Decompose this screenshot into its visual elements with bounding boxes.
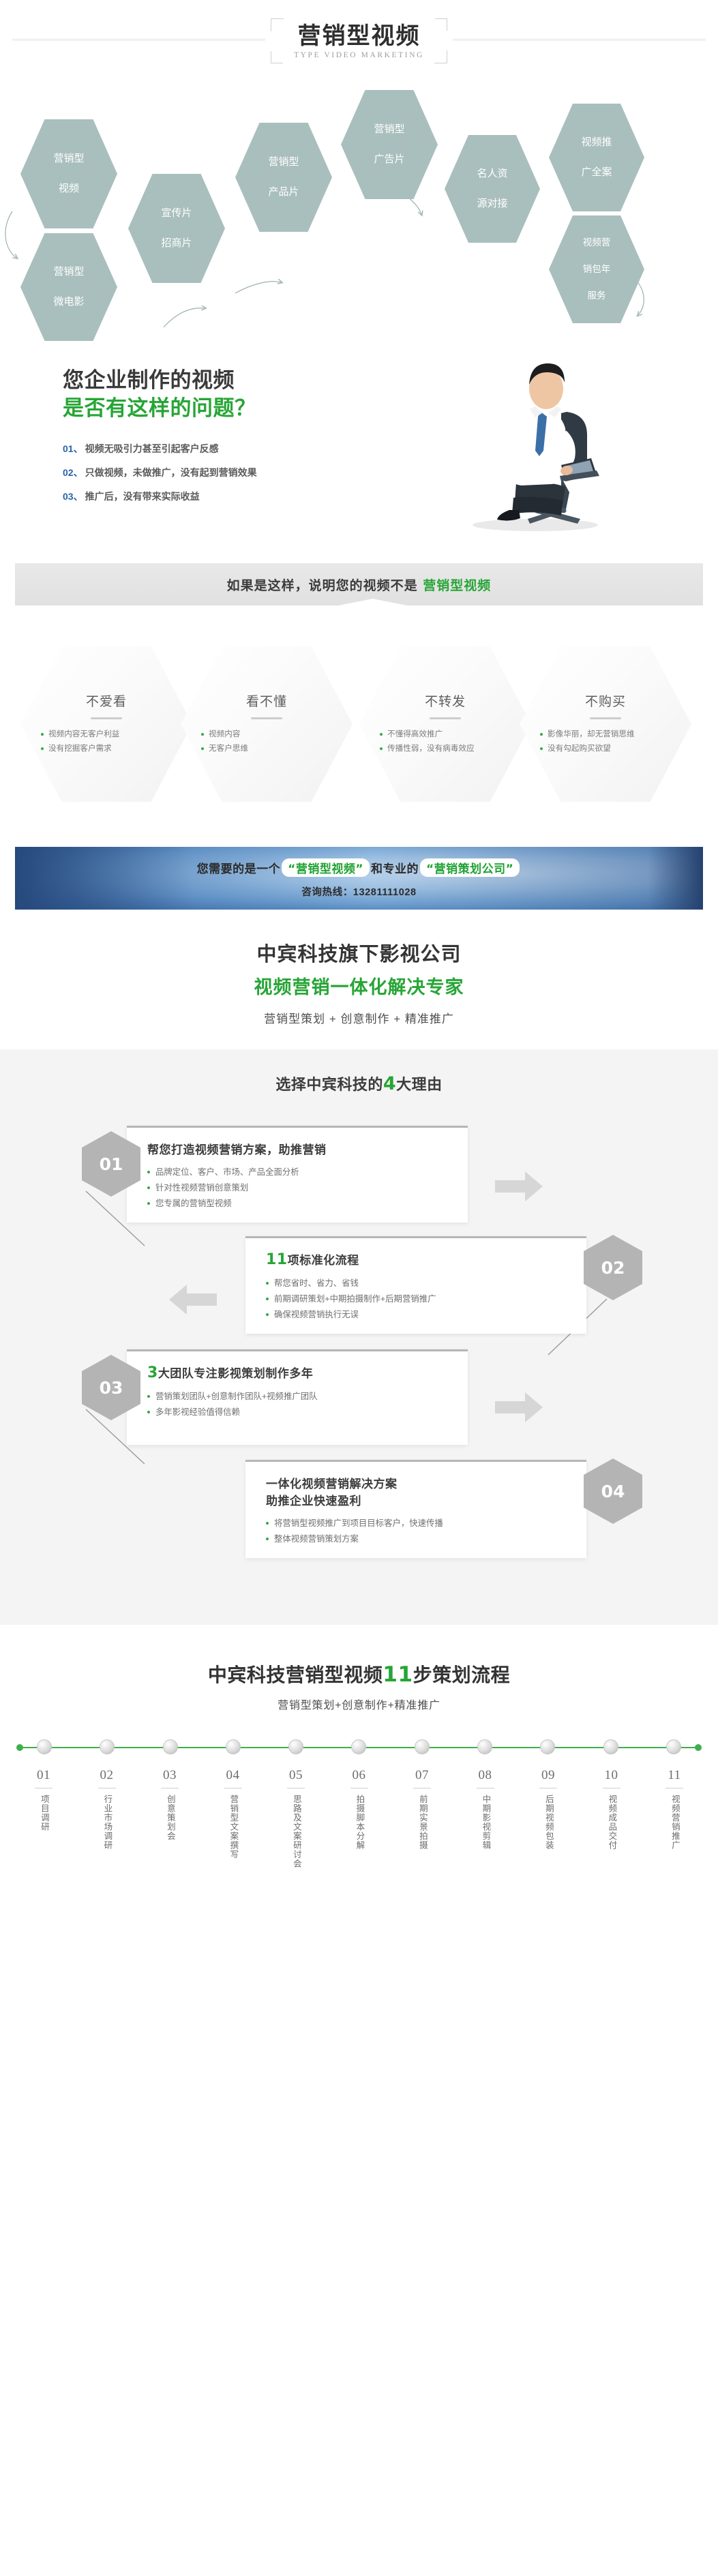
problem-cards-row: 不爱看 视频内容无客户利益 没有挖掘客户需求 看不懂 视频内容 无客户思维 不转 (0, 635, 718, 820)
hex-line: 广全案 (577, 165, 616, 180)
service-hex-ad-film[interactable]: 营销型 广告片 (341, 90, 438, 199)
company-name-heading: 中宾科技旗下影视公司 (0, 938, 718, 967)
reason-title-text: 帮您打造视频营销方案，助推营销 (147, 1143, 327, 1157)
title-divider (91, 717, 122, 719)
problem-number: 03、 (63, 490, 83, 503)
step-label: 视频营销推广 (668, 1795, 680, 1850)
service-hex-marketing-video[interactable]: 营销型 视频 (20, 119, 117, 228)
bullet: 将营销型视频推广到项目目标客户，快速传播 (266, 1516, 569, 1531)
problem-card-bullets: 视频内容 无客户思维 (201, 728, 332, 755)
bullet: 没有勾起购买欲望 (540, 743, 671, 755)
reason-card-2[interactable]: 11项标准化流程 帮您省时、省力、省钱 前期调研策划+中期拍摄制作+后期营销推广… (245, 1236, 586, 1334)
timeline-step[interactable]: 10 视频成品交付 (586, 1768, 638, 1868)
bullet: 整体视频营销策划方案 (266, 1531, 569, 1547)
timeline-heading: 中宾科技营销型视频11步策划流程 (0, 1660, 718, 1688)
hex-line: 营销型 (49, 265, 88, 280)
problem-number: 02、 (63, 466, 83, 479)
problem-card-1[interactable]: 不爱看 视频内容无客户利益 没有挖掘客户需求 (20, 646, 192, 802)
page-title: 营销型视频 (294, 24, 424, 49)
bullet: 前期调研策划+中期拍摄制作+后期营销推广 (266, 1291, 569, 1307)
hotline-label: 咨询热线： (301, 887, 353, 898)
cta-headline: 您需要的是一个“营销型视频”和专业的“营销策划公司” (197, 858, 522, 877)
reason-number: 01 (100, 1154, 123, 1174)
problem-card-title: 看不懂 (201, 691, 332, 710)
timeline-step[interactable]: 11 视频营销推广 (648, 1768, 700, 1868)
step-number: 05 (270, 1768, 322, 1783)
bullet: 不懂得高效推广 (380, 728, 511, 741)
gray-banner-text: 如果是这样，说明您的视频不是 营销型视频 (227, 575, 492, 594)
reason-title-text: 项标准化流程 (288, 1254, 359, 1268)
landing-page: 营销型视频 TYPE VIDEO MARKETING 营销型 视频 (0, 0, 718, 1896)
reasons-list: 01 帮您打造视频营销方案，助推营销 品牌定位、客户、市场、产品全面分析 针对性… (0, 1115, 718, 1592)
reason-bullets: 营销策划团队+创意制作团队+视频推广团队 多年影视经验值得信赖 (147, 1389, 450, 1420)
timeline-step[interactable]: 01 项目调研 (18, 1768, 70, 1868)
problem-heading-line1: 您企业制作的视频 (63, 368, 235, 393)
step-label: 拍摄脚本分解 (353, 1795, 365, 1850)
step-label: 思路及文案研讨会 (290, 1795, 302, 1868)
timeline-step[interactable]: 09 后期视频包装 (522, 1768, 574, 1868)
step-underline (603, 1788, 620, 1788)
step-underline (35, 1788, 53, 1788)
company-services-line: 营销型策划 + 创意制作 + 精准推广 (0, 1009, 718, 1026)
timeline-dot (226, 1739, 241, 1754)
problem-card-title: 不购买 (540, 691, 671, 710)
page-title-box: 营销型视频 TYPE VIDEO MARKETING (265, 17, 453, 65)
timeline-dots (18, 1739, 700, 1754)
step-label: 前期实景拍摄 (416, 1795, 428, 1850)
corner-bracket-top-right (435, 18, 447, 31)
hex-line: 源对接 (473, 196, 511, 211)
bullet: 帮您省时、省力、省钱 (266, 1276, 569, 1291)
page-subtitle: TYPE VIDEO MARKETING (294, 51, 424, 59)
hotline-number: 13281111028 (353, 887, 417, 898)
reasons-section: 选择中宾科技的4大理由 01 (0, 1049, 718, 1625)
step-label: 后期视频包装 (542, 1795, 554, 1850)
cta-highlight-company: “营销策划公司” (420, 858, 520, 877)
bullet: 传播性弱，没有病毒效应 (380, 743, 511, 755)
reason-number: 03 (100, 1378, 123, 1398)
timeline-step[interactable]: 03 创意策划会 (144, 1768, 196, 1868)
bullet: 品牌定位、客户、市场、产品全面分析 (147, 1165, 450, 1180)
reason-bullets: 帮您省时、省力、省钱 前期调研策划+中期拍摄制作+后期营销推广 确保视频营销执行… (266, 1276, 569, 1323)
problem-card-2[interactable]: 看不懂 视频内容 无客户思维 (181, 646, 353, 802)
problem-card-title: 不转发 (380, 691, 511, 710)
cta-part1: 您需要的是一个 (197, 863, 281, 876)
hex-line: 招商片 (157, 236, 196, 251)
step-underline (224, 1788, 242, 1788)
problem-heading-line2: 是否有这样的问题？ (63, 396, 256, 421)
title-divider (590, 717, 621, 719)
problem-card-bullets: 影像华丽，却无营销思维 没有勾起购买欲望 (540, 728, 671, 755)
reason-number-hex-02: 02 (584, 1235, 642, 1300)
hex-line: 销包年 (579, 263, 615, 276)
reason-card-title: 一体化视频营销解决方案 助推企业快速盈利 (266, 1474, 569, 1508)
timeline-dot (351, 1739, 366, 1754)
reason-title-number: 11 (266, 1251, 288, 1268)
reasons-title-number: 4 (383, 1073, 396, 1094)
reason-number-hex-04: 04 (584, 1458, 642, 1524)
problem-statement-section: 您企业制作的视频 是否有这样的问题？ 01、 视频无吸引力甚至引起客户反感 02… (0, 334, 718, 545)
step-underline (665, 1788, 683, 1788)
reason-bullets: 品牌定位、客户、市场、产品全面分析 针对性视频营销创意策划 您专属的营销型视频 (147, 1165, 450, 1212)
timeline-dot (666, 1739, 681, 1754)
step-label: 创意策划会 (164, 1795, 176, 1841)
reason-row-4: 04 一体化视频营销解决方案 助推企业快速盈利 将营销型视频推广到项目目标客户，… (213, 1456, 635, 1558)
step-underline (413, 1788, 431, 1788)
reason-title-number: 3 (147, 1364, 158, 1381)
timeline-dot (477, 1739, 492, 1754)
corner-bracket-bottom-left (271, 51, 283, 63)
service-hexagon-cluster: 营销型 视频 宣传片 招商片 营销型 产品片 营销型 广告片 名人资 源对接 视… (0, 82, 718, 334)
problem-card-title: 不爱看 (41, 691, 172, 710)
step-underline (539, 1788, 557, 1788)
step-underline (477, 1788, 494, 1788)
problem-card-bullets: 视频内容无客户利益 没有挖掘客户需求 (41, 728, 172, 755)
cta-banner: 您需要的是一个“营销型视频”和专业的“营销策划公司” 咨询热线：13281111… (15, 847, 703, 910)
timeline-title-prefix: 中宾科技营销型视频 (208, 1664, 383, 1686)
company-tagline: 视频营销一体化解决专家 (0, 972, 718, 999)
hex-line: 广告片 (370, 152, 408, 167)
problem-number: 01、 (63, 442, 83, 455)
gray-banner-prefix: 如果是这样，说明您的视频不是 (227, 578, 423, 593)
service-hex-celebrity-resources[interactable]: 名人资 源对接 (445, 135, 540, 243)
step-number: 06 (333, 1768, 385, 1783)
timeline-dot (603, 1739, 618, 1754)
reason-card-3[interactable]: 3大团队专注影视策划制作多年 营销策划团队+创意制作团队+视频推广团队 多年影视… (127, 1349, 468, 1445)
timeline-title-number: 11 (383, 1662, 413, 1687)
cta-highlight-video: “营销型视频” (282, 858, 370, 877)
hex-line: 视频推 (577, 135, 616, 150)
hex-line: 营销型 (370, 122, 408, 137)
reason-row-2: 02 11项标准化流程 帮您省时、省力、省钱 前期调研策划+中期拍摄制作+后期营… (213, 1232, 635, 1334)
timeline-dot (100, 1739, 115, 1754)
step-number: 08 (460, 1768, 511, 1783)
hex-line: 服务 (579, 289, 615, 303)
reasons-title-prefix: 选择中宾科技的 (275, 1077, 383, 1094)
problem-text: 推广后，没有带来实际收益 (85, 490, 200, 503)
bullet: 您专属的营销型视频 (147, 1196, 450, 1212)
cta-hotline[interactable]: 咨询热线：13281111028 (301, 884, 416, 899)
problem-card-bullets: 不懂得高效推广 传播性弱，没有病毒效应 (380, 728, 511, 755)
gray-banner-highlight: 营销型视频 (423, 578, 491, 593)
reason-title-text: 一体化视频营销解决方案 (266, 1478, 398, 1491)
gray-conclusion-banner: 如果是这样，说明您的视频不是 营销型视频 (15, 563, 703, 605)
service-hex-product-film[interactable]: 营销型 产品片 (235, 123, 332, 232)
reason-row-1: 01 帮您打造视频营销方案，助推营销 品牌定位、客户、市场、产品全面分析 针对性… (82, 1122, 505, 1224)
cta-part2: 和专业的 (371, 863, 419, 876)
step-underline (98, 1788, 116, 1788)
businessman-photo (433, 349, 638, 533)
company-intro-section: 中宾科技旗下影视公司 视频营销一体化解决专家 营销型策划 + 创意制作 + 精准… (0, 910, 718, 1049)
bullet: 多年影视经验值得信赖 (147, 1405, 450, 1420)
hex-line: 产品片 (264, 185, 303, 200)
step-number: 10 (586, 1768, 638, 1783)
hex-line: 宣传片 (157, 206, 196, 221)
problem-text: 只做视频，未做推广，没有起到营销效果 (85, 466, 257, 479)
hex-line: 营销型 (264, 155, 303, 170)
bullet: 视频内容 (201, 728, 332, 741)
bullet: 视频内容无客户利益 (41, 728, 172, 741)
reason-card-4[interactable]: 一体化视频营销解决方案 助推企业快速盈利 将营销型视频推广到项目目标客户，快速传… (245, 1460, 586, 1558)
reason-title-text: 大团队专注影视策划制作多年 (158, 1367, 314, 1381)
hex-line: 视频 (49, 181, 88, 196)
timeline-step[interactable]: 05 思路及文案研讨会 (270, 1768, 322, 1868)
page-header: 营销型视频 TYPE VIDEO MARKETING (0, 0, 718, 82)
reason-number: 04 (601, 1482, 625, 1501)
hex-line: 视频营 (579, 236, 615, 250)
timeline-dot (540, 1739, 555, 1754)
bullet: 营销策划团队+创意制作团队+视频推广团队 (147, 1389, 450, 1405)
reason-bullets: 将营销型视频推广到项目目标客户，快速传播 整体视频营销策划方案 (266, 1516, 569, 1547)
timeline-section: 中宾科技营销型视频11步策划流程 营销型策划+创意制作+精准推广 01 (0, 1625, 718, 1896)
hex-line: 营销型 (49, 151, 88, 166)
timeline-title-suffix: 步策划流程 (413, 1664, 511, 1686)
step-number: 09 (522, 1768, 574, 1783)
timeline-dot (415, 1739, 430, 1754)
reasons-title-suffix: 大理由 (396, 1077, 443, 1094)
timeline-step[interactable]: 07 前期实景拍摄 (396, 1768, 448, 1868)
step-label: 行业市场调研 (101, 1795, 113, 1850)
reason-card-title: 3大团队专注影视策划制作多年 (147, 1364, 450, 1381)
bullet: 确保视频营销执行无误 (266, 1307, 569, 1323)
hex-line: 微电影 (49, 295, 88, 310)
step-number: 11 (648, 1768, 700, 1783)
step-label: 中期影视剪辑 (479, 1795, 492, 1850)
hex-line: 名人资 (473, 166, 511, 181)
title-divider (430, 717, 461, 719)
service-hex-promotion-plan[interactable]: 视频推 广全案 (549, 104, 644, 211)
reason-card-title: 11项标准化流程 (266, 1250, 569, 1268)
timeline-step[interactable]: 08 中期影视剪辑 (460, 1768, 511, 1868)
timeline-dot (163, 1739, 178, 1754)
problem-card-3[interactable]: 不转发 不懂得高效推广 传播性弱，没有病毒效应 (359, 646, 531, 802)
problem-text: 视频无吸引力甚至引起客户反感 (85, 442, 219, 455)
reason-title-text2: 助推企业快速盈利 (266, 1495, 361, 1508)
step-number: 07 (396, 1768, 448, 1783)
problem-card-4[interactable]: 不购买 影像华丽，却无营销思维 没有勾起购买欲望 (520, 646, 691, 802)
timeline-steps: 01 项目调研 02 行业市场调研 03 创意策划会 04 营销型文案撰写 05 (0, 1757, 718, 1868)
step-label: 视频成品交付 (605, 1795, 618, 1850)
timeline-step[interactable]: 06 拍摄脚本分解 (333, 1768, 385, 1868)
reason-card-title: 帮您打造视频营销方案，助推营销 (147, 1140, 450, 1157)
step-label: 项目调研 (38, 1795, 50, 1831)
timeline-track (18, 1739, 700, 1757)
bullet: 影像华丽，却无营销思维 (540, 728, 671, 741)
step-number: 02 (81, 1768, 133, 1783)
bullet: 没有挖掘客户需求 (41, 743, 172, 755)
reasons-heading: 选择中宾科技的4大理由 (0, 1073, 718, 1094)
reason-number: 02 (601, 1258, 625, 1278)
step-number: 01 (18, 1768, 70, 1783)
bullet: 无客户思维 (201, 743, 332, 755)
service-hex-micro-film[interactable]: 营销型 微电影 (20, 233, 117, 341)
service-hex-promo-film[interactable]: 宣传片 招商片 (128, 174, 225, 283)
timeline-subtitle: 营销型策划+创意制作+精准推广 (0, 1696, 718, 1712)
timeline-step[interactable]: 04 营销型文案撰写 (207, 1768, 259, 1868)
step-number: 03 (144, 1768, 196, 1783)
service-hex-annual-service[interactable]: 视频营 销包年 服务 (549, 215, 644, 323)
step-underline (161, 1788, 179, 1788)
reason-row-3: 03 3大团队专注影视策划制作多年 营销策划团队+创意制作团队+视频推广团队 多… (82, 1345, 505, 1448)
timeline-dot (288, 1739, 303, 1754)
step-label: 营销型文案撰写 (227, 1795, 239, 1859)
step-underline (287, 1788, 305, 1788)
timeline-dot (37, 1739, 52, 1754)
step-underline (350, 1788, 368, 1788)
reason-card-1[interactable]: 帮您打造视频营销方案，助推营销 品牌定位、客户、市场、产品全面分析 针对性视频营… (127, 1126, 468, 1223)
timeline-step[interactable]: 02 行业市场调研 (81, 1768, 133, 1868)
step-number: 04 (207, 1768, 259, 1783)
bullet: 针对性视频营销创意策划 (147, 1180, 450, 1196)
title-divider (251, 717, 282, 719)
